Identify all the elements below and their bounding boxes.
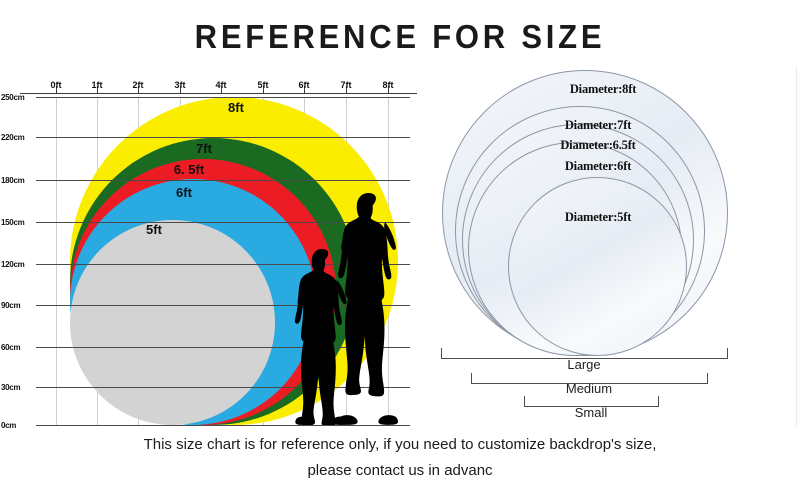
circle-label-8ft: 8ft (228, 100, 244, 115)
caption-line-1: This size chart is for reference only, i… (0, 432, 800, 458)
disc-label-6-5ft: Diameter:6.5ft (560, 138, 635, 153)
y-tick-label: 220cm (1, 133, 24, 142)
y-tick-label: 90cm (1, 301, 20, 310)
gridline-horizontal (36, 97, 410, 98)
x-tick-label: 6ft (299, 80, 310, 90)
circle-label-6-5ft: 6. 5ft (174, 162, 204, 177)
gridline-vertical (56, 97, 57, 425)
right-border (796, 66, 797, 426)
bracket-label-large: Large (567, 357, 600, 372)
y-tick-label: 30cm (1, 383, 20, 392)
bracket-label-medium: Medium (566, 381, 612, 396)
y-tick-label: 120cm (1, 260, 24, 269)
page-title: REFERENCE FOR SIZE (24, 18, 776, 56)
x-tick-label: 5ft (258, 80, 269, 90)
silhouette-child (294, 249, 350, 425)
bracket-label-small: Small (575, 405, 608, 420)
x-tick-label: 2ft (133, 80, 144, 90)
x-tick-label: 0ft (51, 80, 62, 90)
y-tick-label: 150cm (1, 218, 24, 227)
plot-area: 8ft 7ft 6. 5ft 6ft 5ft (36, 97, 410, 425)
x-axis-line (20, 93, 417, 94)
y-tick-label: 0cm (1, 421, 16, 430)
x-tick-label: 3ft (175, 80, 186, 90)
disc-5ft (508, 177, 687, 356)
disc-label-5ft: Diameter:5ft (565, 210, 631, 225)
y-tick-label: 60cm (1, 343, 20, 352)
size-reference-chart: REFERENCE FOR SIZE 0ft 1ft 2ft 3ft 4ft 5… (0, 0, 800, 488)
gridline-horizontal (36, 425, 410, 426)
caption-line-2: please contact us in advanc (0, 458, 800, 484)
y-tick-label: 180cm (1, 176, 24, 185)
disc-label-6ft: Diameter:6ft (565, 159, 631, 174)
x-tick-label: 8ft (383, 80, 394, 90)
x-tick-label: 4ft (216, 80, 227, 90)
y-tick-label: 250cm (1, 93, 24, 102)
x-tick-label: 1ft (92, 80, 103, 90)
height-comparison-chart: 0ft 1ft 2ft 3ft 4ft 5ft 6ft 7ft 8ft 250c… (0, 60, 430, 440)
circle-label-7ft: 7ft (196, 141, 212, 156)
circle-label-6ft: 6ft (176, 185, 192, 200)
x-tick-label: 7ft (341, 80, 352, 90)
diameter-discs-diagram: Diameter:8ft Diameter:7ft Diameter:6.5ft… (430, 58, 750, 358)
circle-label-5ft: 5ft (146, 222, 162, 237)
disc-label-7ft: Diameter:7ft (565, 118, 631, 133)
circle-5ft (70, 220, 275, 425)
gridline-horizontal (36, 180, 410, 181)
caption: This size chart is for reference only, i… (0, 432, 800, 484)
gridline-horizontal (36, 137, 410, 138)
disc-label-8ft: Diameter:8ft (570, 82, 636, 97)
